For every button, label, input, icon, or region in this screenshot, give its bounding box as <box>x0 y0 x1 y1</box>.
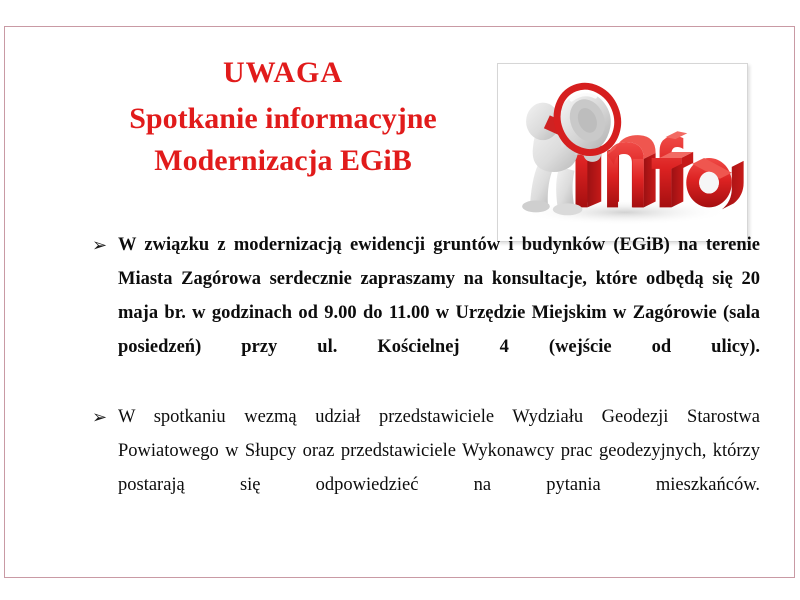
poster-body: ➢ W związku z modernizacją ewidencji gru… <box>92 228 760 538</box>
bullet-participants-notice: ➢ W spotkaniu wezmą udział przedstawicie… <box>92 400 760 536</box>
bullet-participants-notice-text: W spotkaniu wezmą udział przedstawiciele… <box>118 400 760 536</box>
bullet-consultation-notice: ➢ W związku z modernizacją ewidencji gru… <box>92 228 760 398</box>
bullet-arrow-icon: ➢ <box>92 400 107 434</box>
title-subtitle-topic: Modernizacja EGiB <box>78 146 488 176</box>
bullet-consultation-notice-text: W związku z modernizacją ewidencji grunt… <box>118 228 760 398</box>
info-megaphone-icon <box>498 64 747 241</box>
poster-title-block: UWAGA Spotkanie informacyjne Modernizacj… <box>78 58 488 176</box>
info-illustration <box>497 63 748 242</box>
poster-header: UWAGA Spotkanie informacyjne Modernizacj… <box>0 30 800 220</box>
title-subtitle-meeting: Spotkanie informacyjne <box>78 104 488 134</box>
bullet-arrow-icon: ➢ <box>92 228 107 262</box>
poster-page: UWAGA Spotkanie informacyjne Modernizacj… <box>0 0 800 600</box>
page-title: UWAGA <box>78 58 488 88</box>
